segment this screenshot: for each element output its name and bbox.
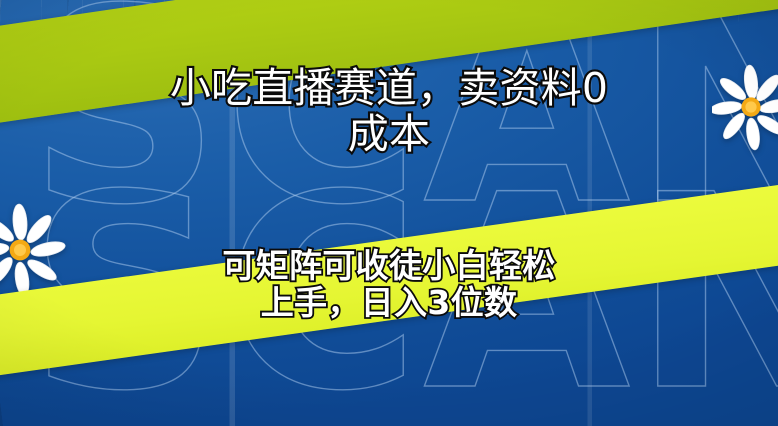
vignette-overlay [0, 0, 778, 426]
promo-poster: SCAN SCAN [0, 0, 778, 426]
